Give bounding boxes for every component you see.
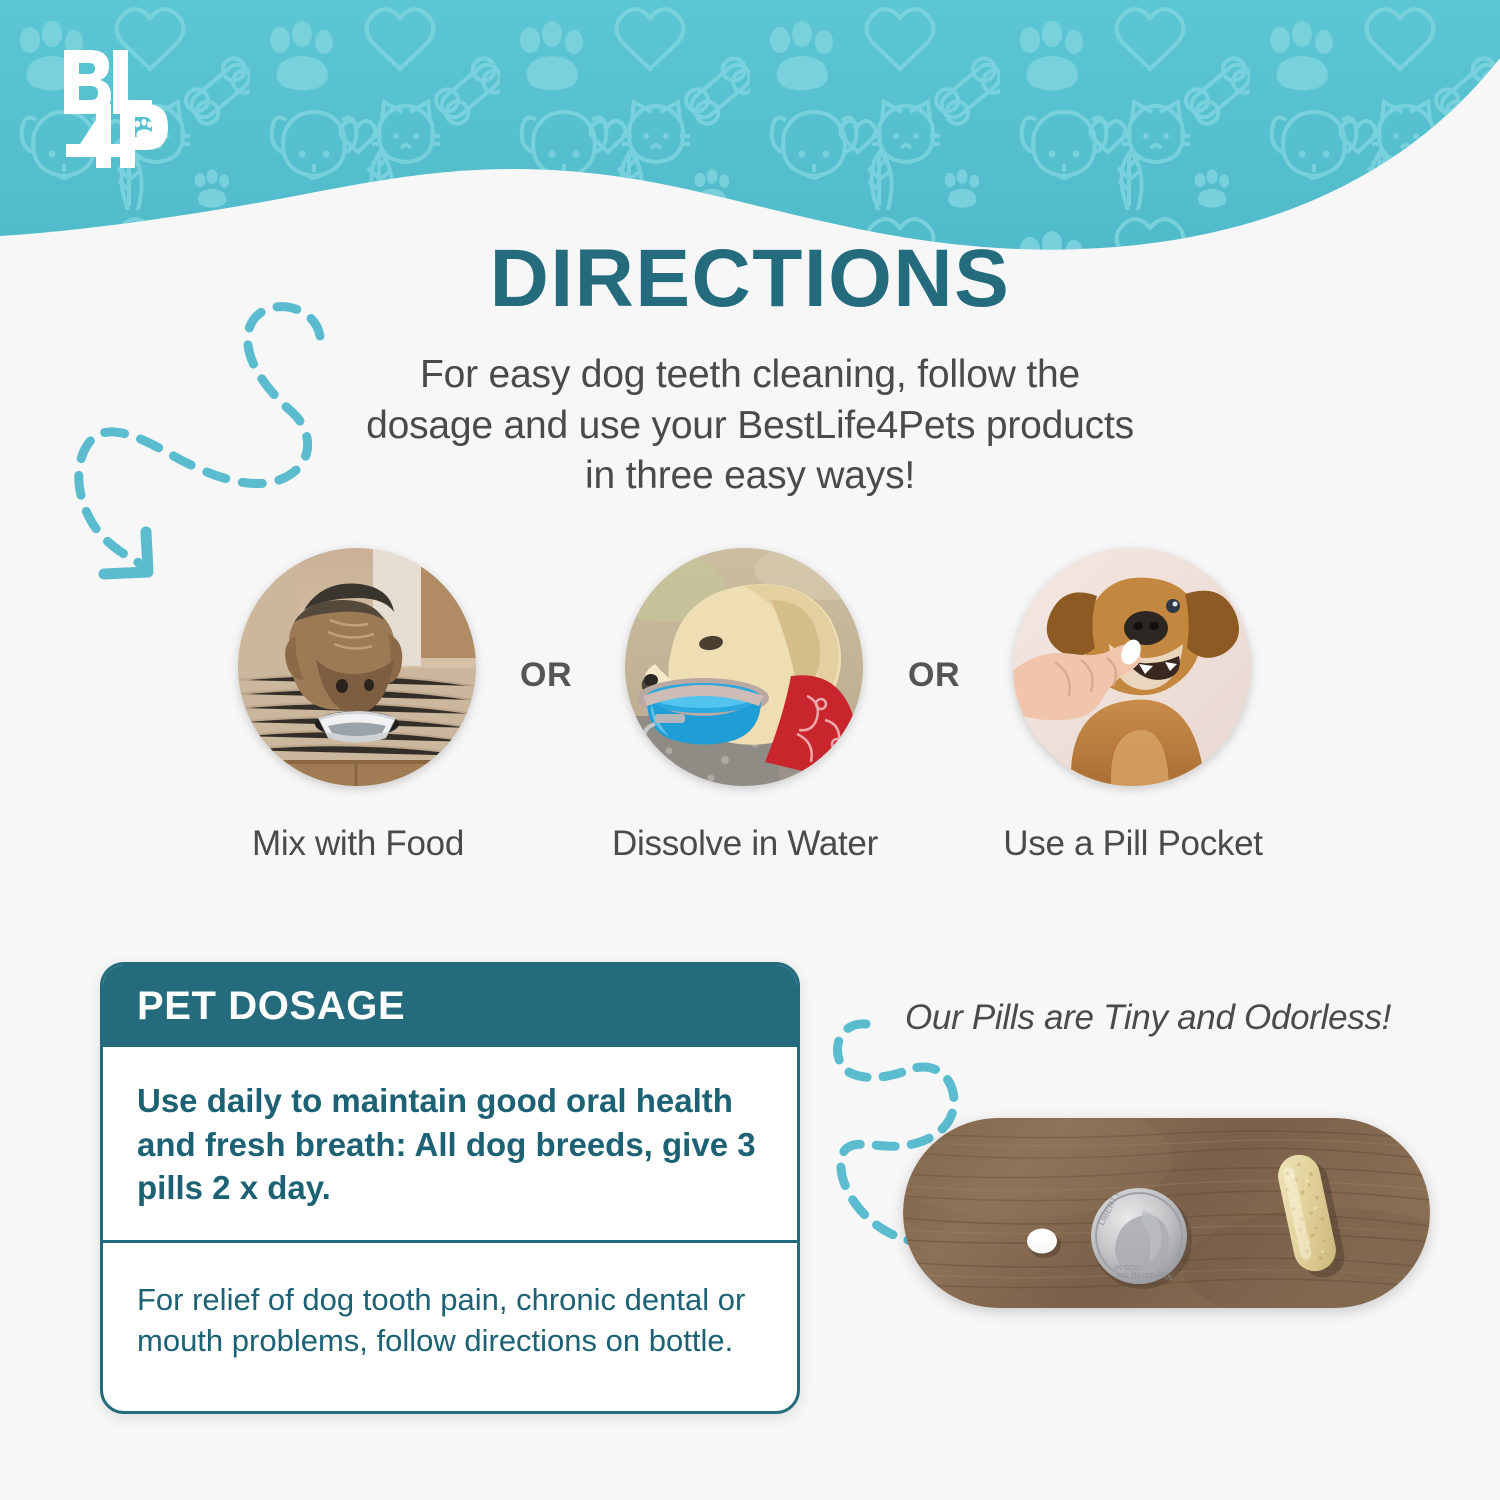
- pet-dosage-title: PET DOSAGE: [137, 984, 405, 1029]
- dog-drinking-from-blue-bowl-photo: [625, 548, 863, 786]
- dog-eating-from-bowl-photo: [238, 548, 476, 786]
- method-label: Mix with Food: [206, 824, 510, 864]
- svg-text:IN GOD: IN GOD: [1115, 1265, 1140, 1272]
- pet-dosage-card: PET DOSAGE Use daily to maintain good or…: [100, 962, 800, 1414]
- method-item-mix-with-food[interactable]: Mix with Food: [238, 548, 478, 864]
- brand-logo: [58, 44, 168, 174]
- hand-feeding-pill-to-dog-photo: [1013, 548, 1251, 786]
- pet-dosage-primary-text: Use daily to maintain good oral health a…: [103, 1047, 797, 1243]
- method-label: Dissolve in Water: [578, 824, 912, 864]
- method-label: Use a Pill Pocket: [975, 824, 1291, 864]
- methods-row: Mix with Food: [0, 548, 1500, 878]
- page-subtitle: For easy dog teeth cleaning, follow the …: [360, 350, 1140, 502]
- pet-dosage-secondary-text: For relief of dog tooth pain, chronic de…: [103, 1243, 797, 1362]
- pet-dosage-header: PET DOSAGE: [103, 965, 797, 1047]
- pills-size-comparison-photo: LIBERTY IN GOD WE TRUST 2006: [903, 1118, 1430, 1308]
- svg-text:WE TRUST: WE TRUST: [1117, 1273, 1154, 1280]
- or-separator-1: OR: [520, 656, 572, 695]
- or-separator-2: OR: [908, 656, 960, 695]
- method-item-use-a-pill-pocket[interactable]: Use a Pill Pocket: [1013, 548, 1253, 864]
- method-item-dissolve-in-water[interactable]: Dissolve in Water: [625, 548, 865, 864]
- curved-dashed-arrow-icon: [52, 292, 342, 587]
